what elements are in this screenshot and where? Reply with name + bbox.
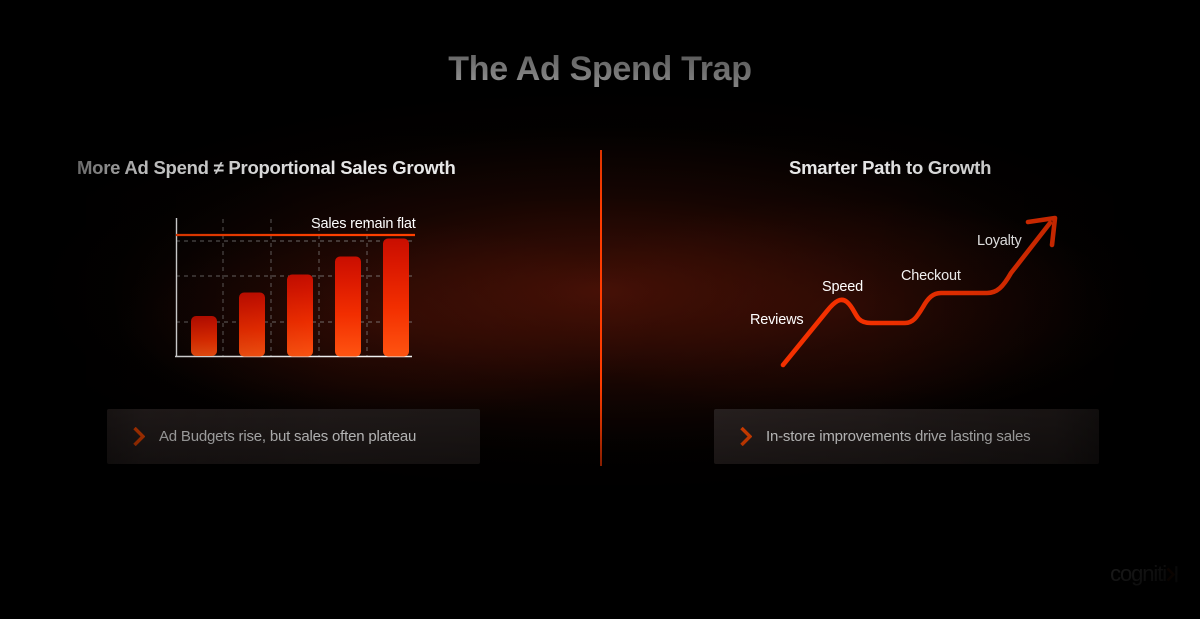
left-callout-card[interactable]: Ad Budgets rise, but sales often plateau — [107, 409, 480, 464]
flat-sales-annotation-label: Sales remain flat — [311, 216, 416, 232]
chevron-bar-icon — [1165, 563, 1179, 585]
bar-3 — [287, 275, 313, 357]
bar-1 — [191, 316, 217, 356]
brand-logo[interactable]: cogniti — [1110, 563, 1179, 585]
growth-label-reviews: Reviews — [750, 312, 803, 328]
growth-label-loyalty: Loyalty — [977, 233, 1022, 249]
right-panel-heading: Smarter Path to Growth — [789, 157, 991, 179]
chevron-right-icon — [740, 427, 752, 446]
chart-bars — [191, 239, 409, 357]
left-callout-text: Ad Budgets rise, but sales often plateau — [159, 428, 416, 445]
growth-label-checkout: Checkout — [901, 268, 961, 284]
bar-chart — [175, 218, 415, 358]
chevron-right-icon — [133, 427, 145, 446]
right-callout-card[interactable]: In-store improvements drive lasting sale… — [714, 409, 1099, 464]
left-panel-heading: More Ad Spend ≠ Proportional Sales Growt… — [77, 157, 456, 179]
bar-2 — [239, 293, 265, 357]
bar-4 — [335, 257, 361, 357]
brand-logo-text: cogniti — [1110, 563, 1166, 585]
bar-5 — [383, 239, 409, 357]
growth-label-speed: Speed — [822, 279, 863, 295]
growth-path-chart — [735, 205, 1080, 380]
right-callout-text: In-store improvements drive lasting sale… — [766, 428, 1030, 445]
vertical-divider — [600, 150, 602, 466]
page-title: The Ad Spend Trap — [0, 50, 1200, 89]
